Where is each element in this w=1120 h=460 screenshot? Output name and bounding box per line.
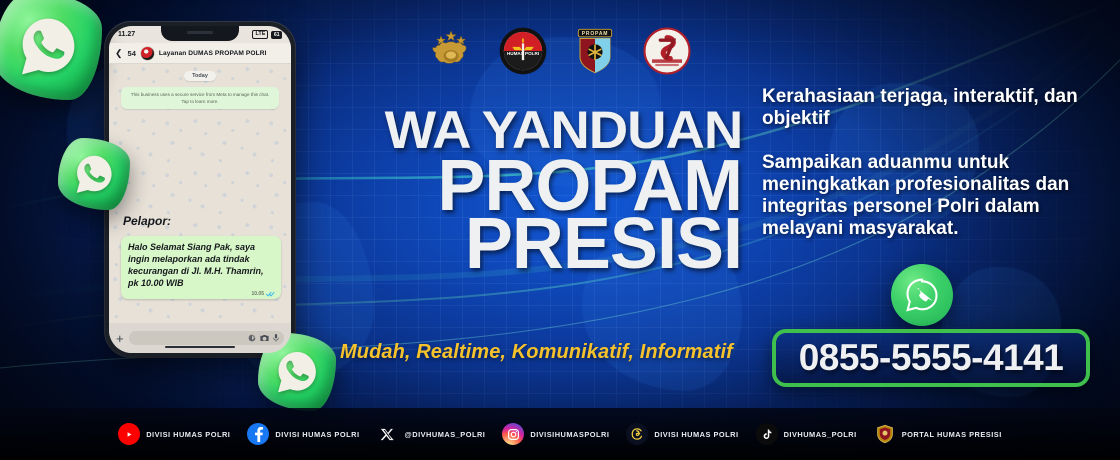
home-indicator: [165, 346, 235, 349]
social-item-threads[interactable]: DIVISI HUMAS POLRI: [626, 423, 738, 445]
phone-notch: [161, 26, 239, 41]
propam-label: PROPAM: [582, 31, 609, 37]
whatsapp-icon: [902, 275, 942, 315]
headline-line-1: WA YANDUAN: [384, 108, 742, 154]
right-text-block-1: Kerahasiaan terjaga, interaktif, dan obj…: [762, 86, 1092, 130]
whatsapp-logo-decoration-2: [58, 138, 130, 210]
back-arrow-icon[interactable]: ❮: [115, 49, 123, 58]
social-label-x: @DIVHUMAS_POLRI: [405, 430, 486, 439]
institution-emblems: HUMAS POLRI PROPAM: [424, 24, 694, 78]
phone-screen: 11.27 LTE 61 ❮ 54 Layanan DUMAS PROPAM P…: [109, 26, 291, 353]
main-headline: WA YANDUAN PROPAM PRESISI: [395, 108, 742, 276]
phone-number-text: 0855-5555-4141: [799, 337, 1064, 379]
network-indicator: LTE: [252, 30, 268, 39]
social-media-footer: DIVISI HUMAS POLRI DIVISI HUMAS POLRI @D…: [0, 408, 1120, 460]
youtube-icon[interactable]: [118, 423, 140, 445]
tiktok-icon[interactable]: [756, 423, 778, 445]
battery-indicator: 61: [271, 31, 282, 39]
emblem-text: HUMAS POLRI: [507, 51, 539, 56]
tagline: Mudah, Realtime, Komunikatif, Informatif: [340, 341, 733, 364]
message-input-field[interactable]: [129, 331, 284, 345]
social-label-instagram: DIVISIHUMASPOLRI: [530, 430, 609, 439]
humas-polri-emblem: HUMAS POLRI: [496, 24, 550, 78]
social-label-threads: DIVISI HUMAS POLRI: [654, 430, 738, 439]
social-label-tiktok: DIVHUMAS_POLRI: [784, 430, 857, 439]
microphone-icon[interactable]: [273, 334, 279, 342]
social-label-portal: PORTAL HUMAS PRESISI: [902, 430, 1002, 439]
right-text-block-2: Sampaikan aduanmu untuk meningkatkan pro…: [762, 152, 1092, 240]
whatsapp-logo-decoration-1: [0, 0, 102, 100]
chat-bubble-outgoing: Halo Selamat Siang Pak, saya ingin melap…: [121, 236, 281, 299]
social-item-youtube[interactable]: DIVISI HUMAS POLRI: [118, 423, 230, 445]
sender-label: Pelapor:: [123, 214, 171, 228]
tribrata-polri-emblem: [424, 24, 478, 78]
social-item-x[interactable]: @DIVHUMAS_POLRI: [377, 423, 486, 445]
threads-icon[interactable]: [626, 423, 648, 445]
polri-logo-icon[interactable]: [874, 423, 896, 445]
anniversary-78-emblem: [640, 24, 694, 78]
right-text-block: Kerahasiaan terjaga, interaktif, dan obj…: [762, 86, 1092, 240]
unread-count: 54: [128, 49, 136, 58]
phone-number-box[interactable]: 0855-5555-4141: [772, 329, 1090, 387]
promotional-banner: 11.27 LTE 61 ❮ 54 Layanan DUMAS PROPAM P…: [0, 0, 1120, 460]
camera-icon[interactable]: [260, 334, 269, 342]
status-time: 11.27: [118, 31, 135, 38]
read-receipt-icon: [266, 291, 275, 297]
message-time: 10.05: [251, 291, 264, 297]
contact-avatar: [141, 47, 154, 60]
facebook-icon[interactable]: [247, 423, 269, 445]
attach-plus-icon[interactable]: +: [116, 332, 124, 345]
contact-name: Layanan DUMAS PROPAM POLRI: [159, 50, 267, 57]
sticker-icon[interactable]: [248, 334, 256, 342]
social-item-instagram[interactable]: DIVISIHUMASPOLRI: [502, 423, 609, 445]
business-notice[interactable]: This business uses a secure service from…: [121, 87, 279, 109]
chat-message-area: Today This business uses a secure servic…: [109, 64, 291, 323]
social-item-portal[interactable]: PORTAL HUMAS PRESISI: [874, 423, 1002, 445]
phone-mockup: 11.27 LTE 61 ❮ 54 Layanan DUMAS PROPAM P…: [105, 22, 295, 357]
social-label-facebook: DIVISI HUMAS POLRI: [275, 430, 359, 439]
chat-message-text: Halo Selamat Siang Pak, saya ingin melap…: [128, 242, 274, 290]
whatsapp-circle-badge: [891, 264, 953, 326]
chat-header: ❮ 54 Layanan DUMAS PROPAM POLRI: [109, 43, 291, 64]
message-meta: 10.05: [251, 291, 275, 297]
chat-input-bar[interactable]: +: [109, 323, 291, 353]
day-divider: Today: [184, 71, 216, 81]
social-label-youtube: DIVISI HUMAS POLRI: [146, 430, 230, 439]
social-item-tiktok[interactable]: DIVHUMAS_POLRI: [756, 423, 857, 445]
x-twitter-icon[interactable]: [377, 423, 399, 445]
propam-shield-emblem: PROPAM: [568, 24, 622, 78]
social-item-facebook[interactable]: DIVISI HUMAS POLRI: [247, 423, 359, 445]
instagram-icon[interactable]: [502, 423, 524, 445]
